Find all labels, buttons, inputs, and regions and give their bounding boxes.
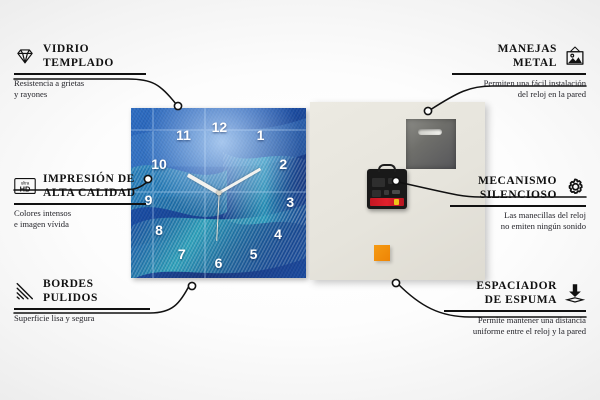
feature-description: Permiten una fácil instalación del reloj… <box>452 78 586 101</box>
clock-numeral: 10 <box>151 157 167 171</box>
feature-divider <box>14 203 146 205</box>
clock-numeral: 2 <box>279 157 287 171</box>
clock-numeral: 5 <box>250 247 258 261</box>
feature-divider <box>452 73 586 75</box>
feature-divider <box>14 308 150 310</box>
feature-divider <box>450 205 586 207</box>
hanger-slot <box>418 129 442 135</box>
metal-hanger-plate <box>406 119 456 169</box>
feature-description: Resistencia a grietas y rayones <box>14 78 146 101</box>
wire-dot-bordes <box>188 282 195 289</box>
clock-numeral: 8 <box>155 223 163 237</box>
feature-title: BORDES PULIDOS <box>43 277 98 305</box>
clock-numeral: 12 <box>212 120 228 134</box>
clock-numeral: 1 <box>257 128 265 142</box>
diamond-icon <box>14 45 36 67</box>
clock-front-panel: 12 1 2 3 4 5 6 7 8 9 10 11 <box>131 108 306 278</box>
ultra-hd-icon: ultra HD <box>14 175 36 197</box>
feature-title: IMPRESIÓN DE ALTA CALIDAD <box>43 172 136 200</box>
mechanism-handle <box>378 164 396 172</box>
feature-title: MANEJAS METAL <box>498 42 557 70</box>
feature-description: Las manecillas del reloj no emiten ningú… <box>450 210 586 233</box>
feature-impresion-alta-calidad[interactable]: ultra HD IMPRESIÓN DE ALTA CALIDAD Color… <box>14 172 146 231</box>
wall-hanger-icon <box>564 45 586 67</box>
feature-bordes-pulidos[interactable]: BORDES PULIDOS Superficie lisa y segura <box>14 277 150 324</box>
polished-edges-icon <box>14 280 36 302</box>
svg-text:HD: HD <box>20 185 31 194</box>
feature-title: ESPACIADOR DE ESPUMA <box>476 279 557 307</box>
infographic-canvas: 12 1 2 3 4 5 6 7 8 9 10 11 <box>0 0 600 400</box>
quartz-mechanism <box>367 169 407 209</box>
clock-numeral: 3 <box>286 195 294 209</box>
clock-numeral: 11 <box>176 128 191 142</box>
feature-mecanismo-silencioso[interactable]: MECANISMO SILENCIOSO Las manecillas del … <box>450 174 586 233</box>
mechanism-yellow-dot <box>394 199 399 205</box>
feature-description: Colores intensos e imagen vívida <box>14 208 146 231</box>
feature-manejas-metal[interactable]: MANEJAS METAL Permiten una fácil instala… <box>452 42 586 101</box>
clock-hands-hub <box>216 191 221 196</box>
feature-divider <box>444 310 586 312</box>
foam-spacer-icon <box>564 282 586 304</box>
feature-description: Superficie lisa y segura <box>14 313 150 325</box>
gear-icon <box>564 177 586 199</box>
feature-description: Permite mantener una distancia uniforme … <box>444 315 586 338</box>
clock-numeral: 7 <box>178 247 186 261</box>
feature-espaciador-espuma[interactable]: ESPACIADOR DE ESPUMA Permite mantener un… <box>444 279 586 338</box>
clock-numeral: 4 <box>274 227 282 241</box>
feature-title: VIDRIO TEMPLADO <box>43 42 114 70</box>
wire-dot-espaciador <box>392 279 399 286</box>
foam-spacer-part <box>374 245 390 261</box>
clock-numeral: 6 <box>215 256 223 270</box>
feature-vidrio-templado[interactable]: VIDRIO TEMPLADO Resistencia a grietas y … <box>14 42 146 101</box>
feature-title: MECANISMO SILENCIOSO <box>478 174 557 202</box>
feature-divider <box>14 73 146 75</box>
